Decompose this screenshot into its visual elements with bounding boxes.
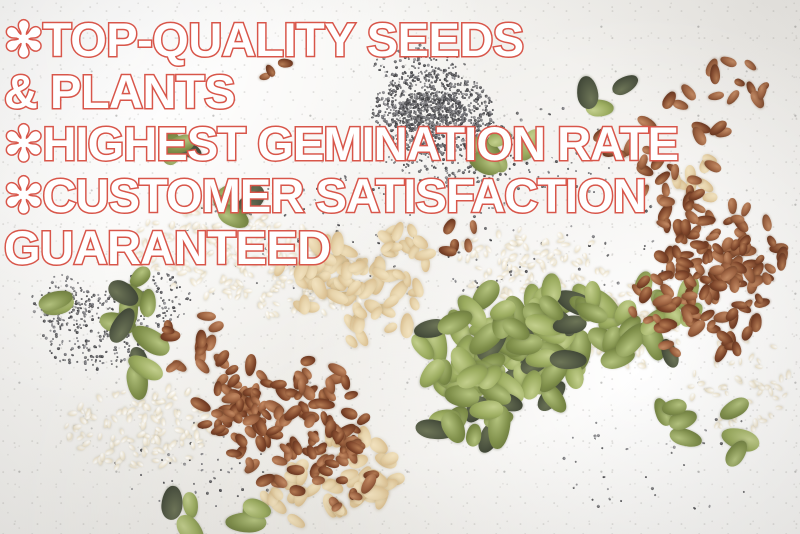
promo-banner: ✻TOP-QUALITY SEEDS & PLANTS ✻HIGHEST GEM…	[0, 0, 800, 534]
photo-vignette	[0, 0, 800, 534]
food-photograph	[0, 0, 800, 534]
